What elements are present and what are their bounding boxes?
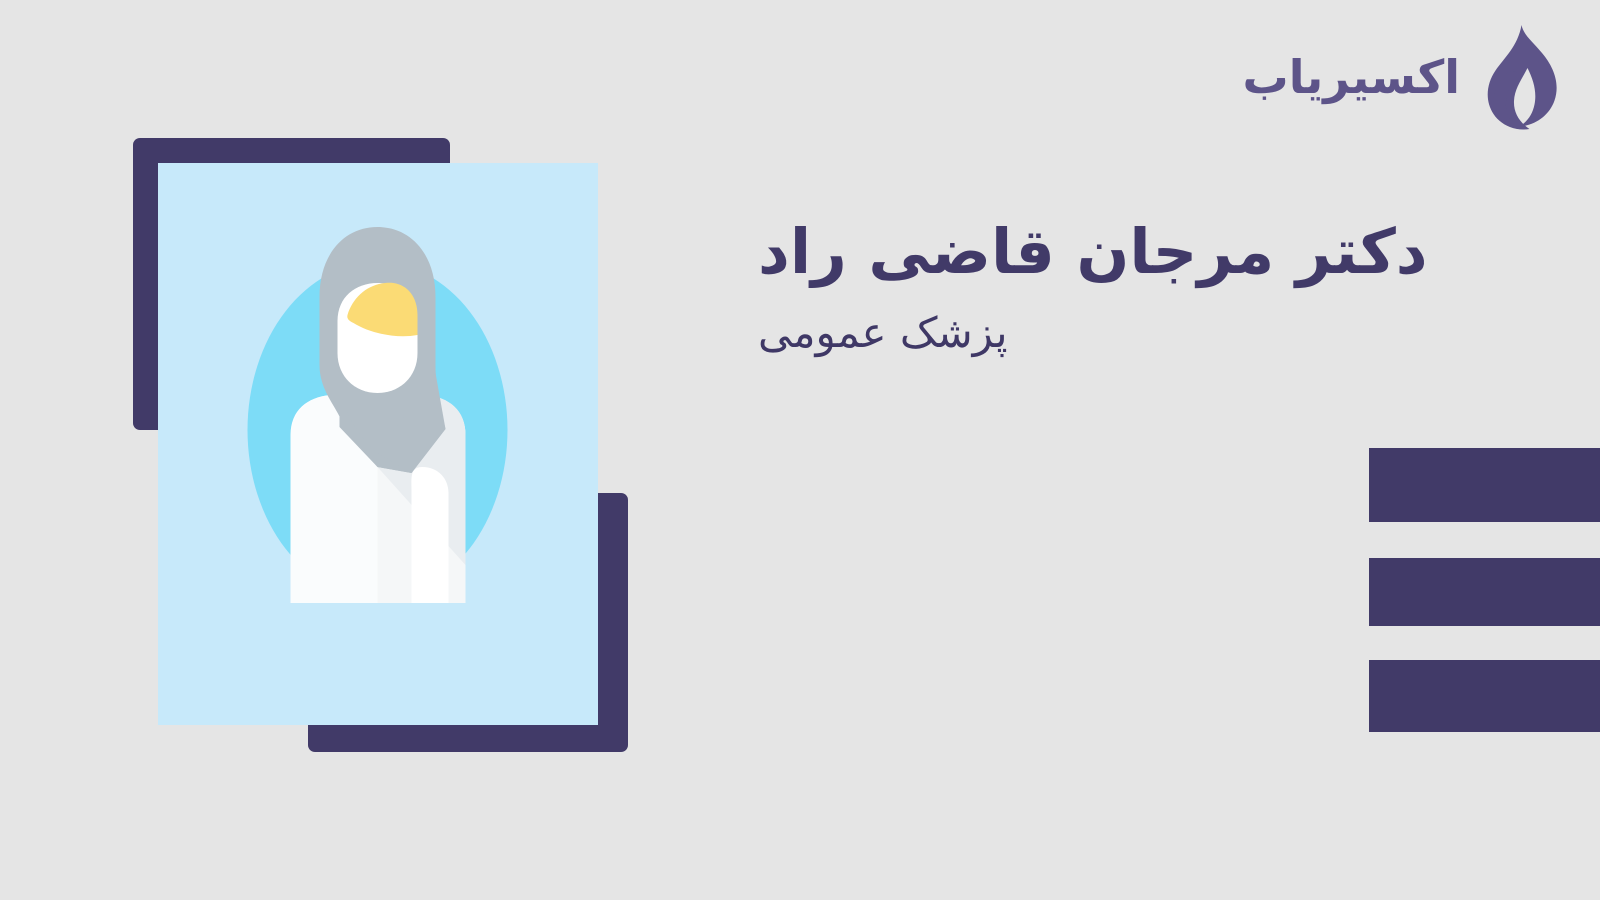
- doctor-name: دکتر مرجان قاضی راد: [758, 214, 1538, 290]
- brand-name: اکسیریاب: [1243, 54, 1461, 100]
- doctor-specialty: پزشک عمومی: [758, 308, 1538, 358]
- decorative-bar-3: [1369, 660, 1600, 732]
- decorative-bar-1: [1369, 448, 1600, 522]
- decorative-bars: [1369, 448, 1600, 732]
- brand-logo: اکسیریاب: [1243, 22, 1561, 132]
- flame-icon: [1474, 22, 1560, 132]
- decorative-bar-2: [1369, 558, 1600, 626]
- photo-plate: [158, 163, 598, 725]
- headline-block: دکتر مرجان قاضی راد پزشک عمومی: [758, 214, 1538, 358]
- photo-composition: [133, 138, 633, 758]
- profile-card-canvas: اکسیریاب دکتر مرجان قاضی راد پزشک عمومی: [0, 0, 1600, 900]
